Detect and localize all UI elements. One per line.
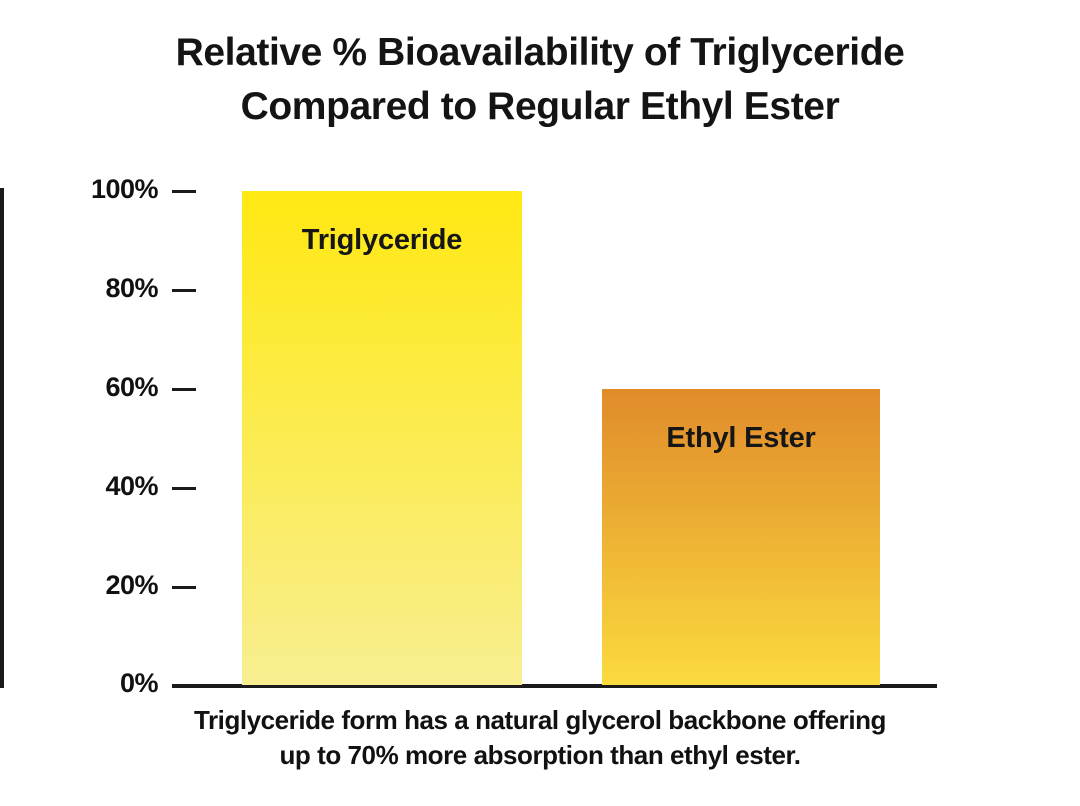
plot-area: Triglyceride Ethyl Ester <box>172 191 935 685</box>
y-axis-label-100: 100% <box>91 174 158 205</box>
chart-figure: Relative % Bioavailability of Triglyceri… <box>0 0 1080 806</box>
bar-label-ethyl-ester: Ethyl Ester <box>602 422 880 455</box>
y-axis-label-0: 0% <box>120 668 158 699</box>
chart-caption-line-1: Triglyceride form has a natural glycerol… <box>0 703 1080 738</box>
chart-title-line-1: Relative % Bioavailability of Triglyceri… <box>0 26 1080 80</box>
chart-caption-line-2: up to 70% more absorption than ethyl est… <box>0 738 1080 773</box>
y-axis-tick-labels: 100% 80% 60% 40% 20% 0% <box>0 0 158 806</box>
chart-caption: Triglyceride form has a natural glycerol… <box>0 703 1080 772</box>
y-axis-label-20: 20% <box>105 570 158 601</box>
chart-title-line-2: Compared to Regular Ethyl Ester <box>0 80 1080 134</box>
chart-title: Relative % Bioavailability of Triglyceri… <box>0 26 1080 134</box>
bar-triglyceride: Triglyceride <box>242 191 522 685</box>
y-axis-label-60: 60% <box>105 372 158 403</box>
bar-ethyl-ester: Ethyl Ester <box>602 389 880 685</box>
y-axis-label-80: 80% <box>105 273 158 304</box>
bar-label-triglyceride: Triglyceride <box>242 224 522 257</box>
y-axis-label-40: 40% <box>105 471 158 502</box>
